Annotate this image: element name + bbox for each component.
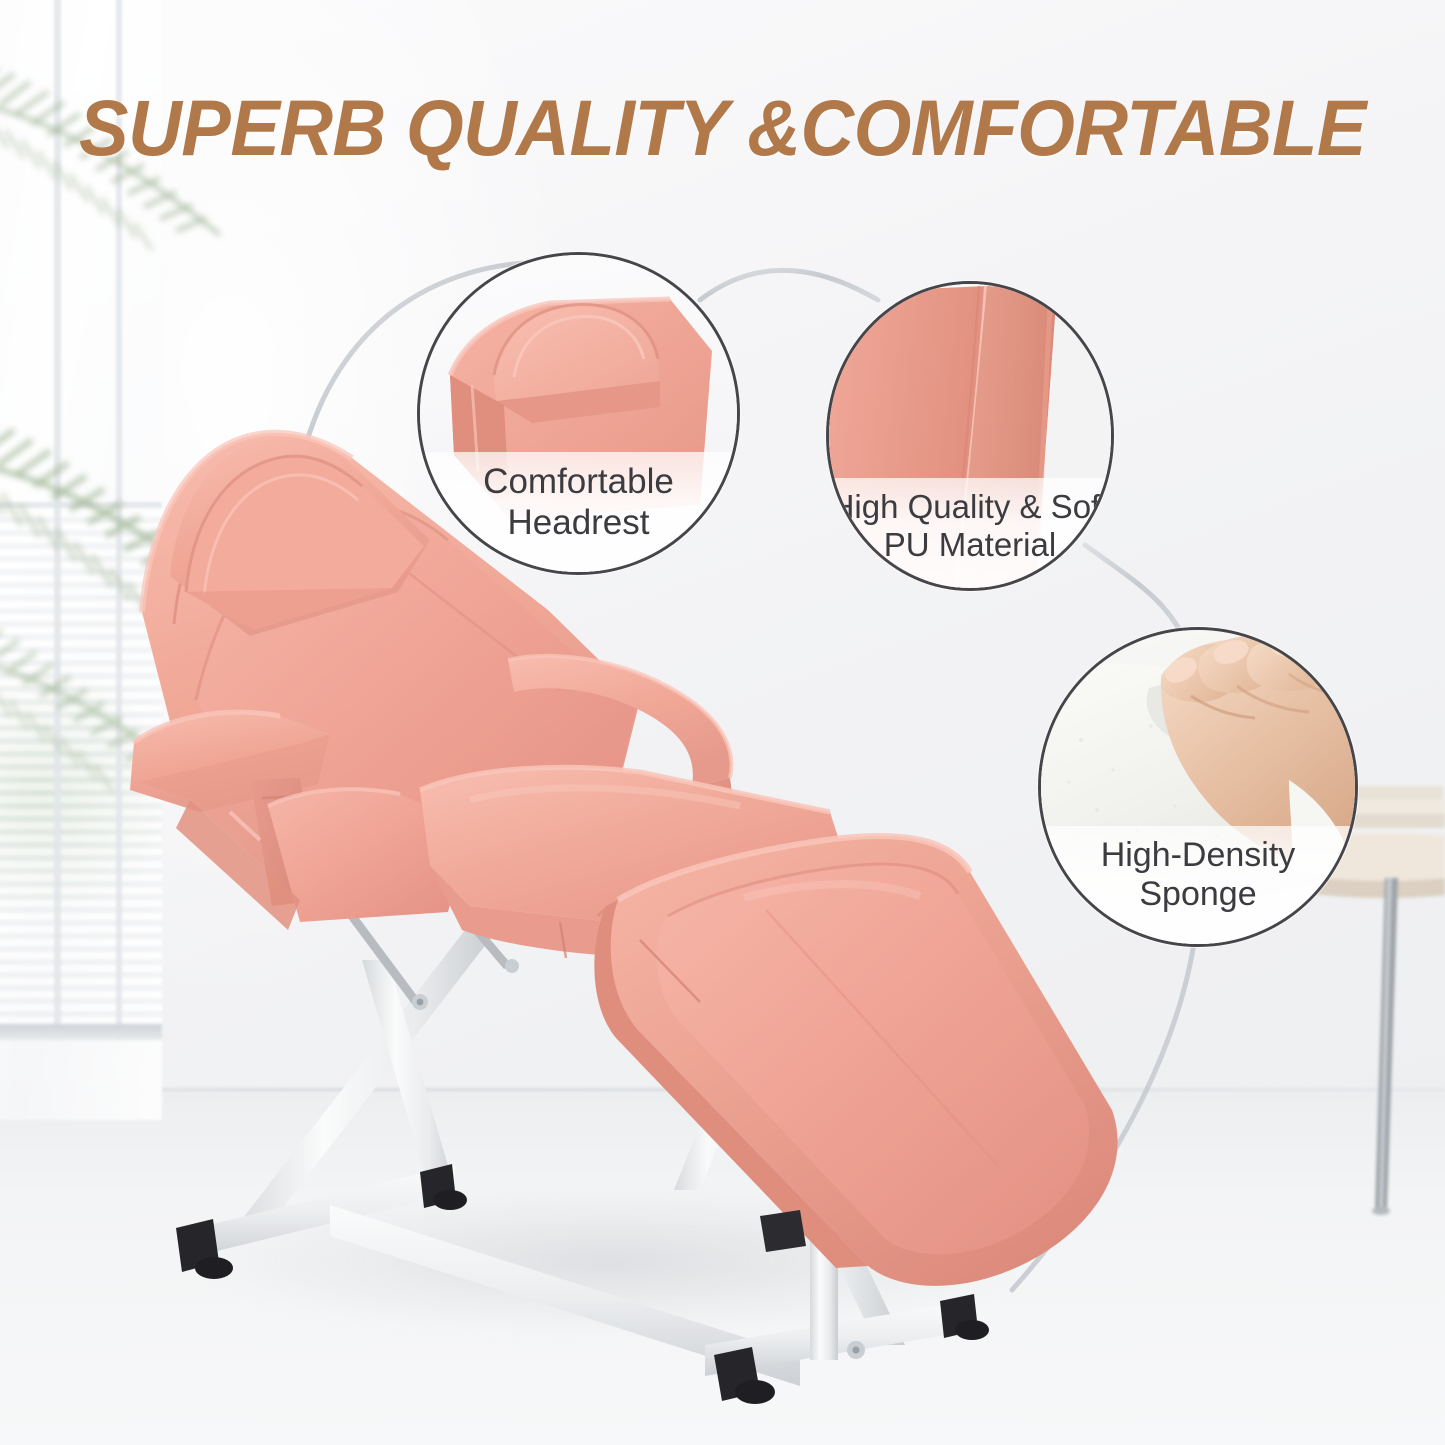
page-title: SUPERB QUALITY &COMFORTABLE: [43, 82, 1401, 174]
callout-2-line-1: High Quality & Soft: [829, 488, 1111, 526]
callout-high-density-sponge[interactable]: High-Density Sponge: [1038, 627, 1358, 947]
callout-3-line-2: Sponge: [1041, 875, 1355, 914]
callout-1-line-1: Comfortable: [420, 462, 737, 503]
callout-1-caption: Comfortable Headrest: [420, 452, 737, 572]
callout-1-line-2: Headrest: [420, 503, 737, 544]
callout-2-caption: High Quality & Soft PU Material: [829, 478, 1111, 588]
chair-leg-rest: [594, 836, 1117, 1286]
callout-3-line-1: High-Density: [1041, 836, 1355, 875]
product-marketing-image: SUPERB QUALITY &COMFORTABLE: [0, 0, 1445, 1445]
callout-high-quality-soft-pu-material[interactable]: High Quality & Soft PU Material: [826, 281, 1114, 591]
callout-2-line-2: PU Material: [829, 526, 1111, 564]
callout-comfortable-headrest[interactable]: Comfortable Headrest: [417, 252, 740, 575]
callout-3-caption: High-Density Sponge: [1041, 826, 1355, 944]
